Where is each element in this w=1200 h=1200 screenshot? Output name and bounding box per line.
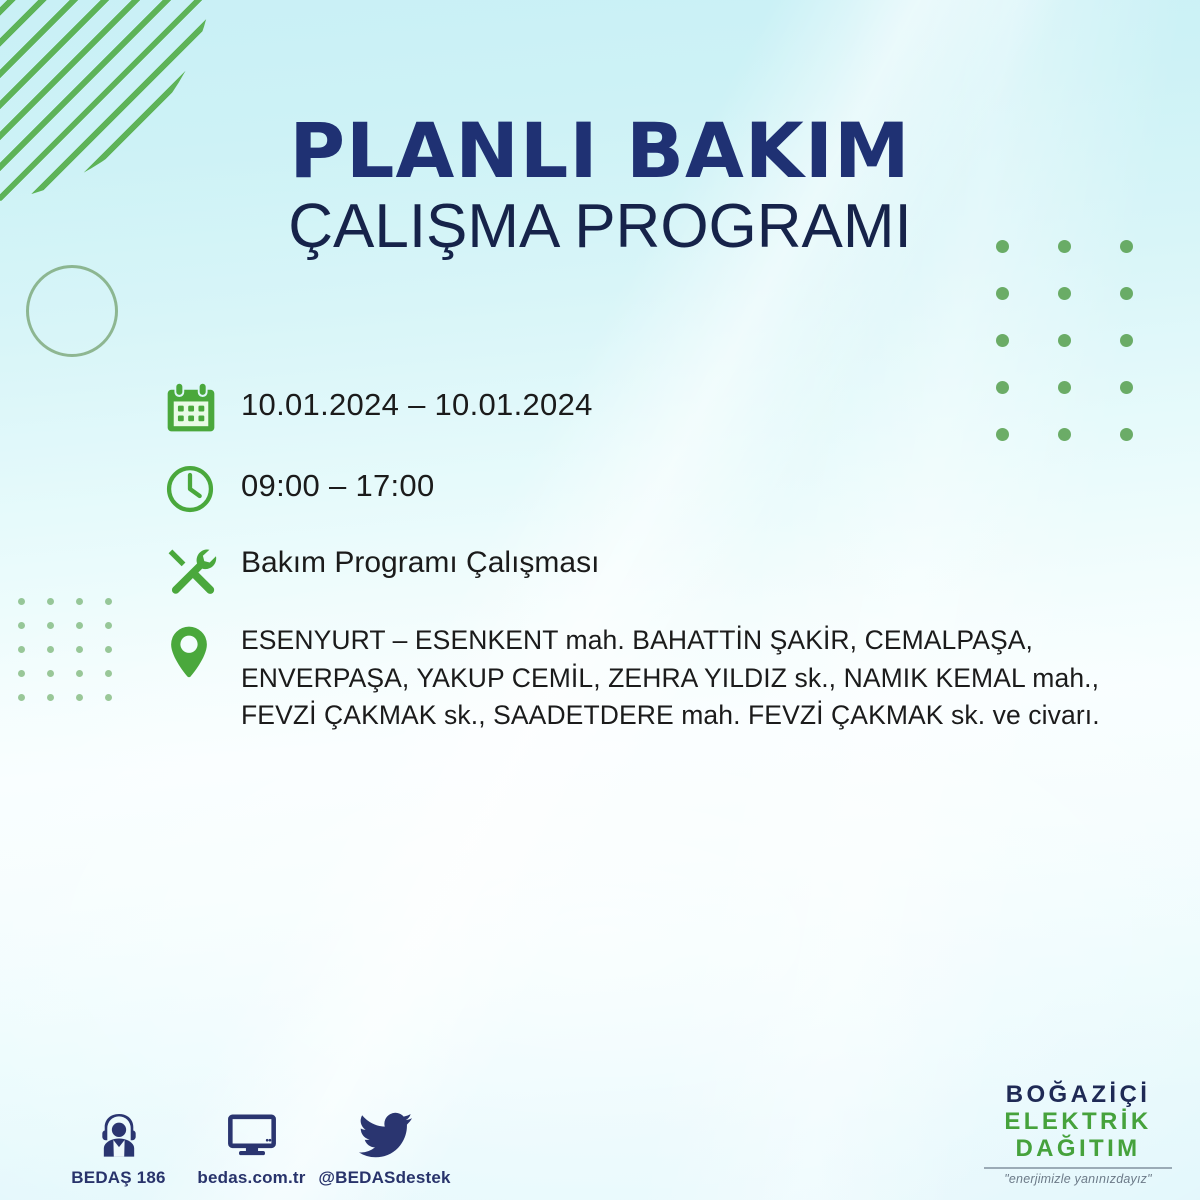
dot-grid-left-decoration: [18, 598, 134, 718]
brand-divider: [984, 1167, 1172, 1169]
info-row-work-type: Bakım Programı Çalışması: [163, 540, 1183, 598]
brand-line-dagitim: DAĞITIM: [978, 1136, 1178, 1163]
tools-icon: [163, 540, 241, 598]
circle-outline-decoration: [26, 265, 118, 357]
brand-tagline: "enerjimizle yanınızdayız": [978, 1172, 1178, 1186]
contact-phone-label: BEDAŞ 186: [52, 1168, 185, 1188]
calendar-icon: [163, 378, 241, 436]
location-text: ESENYURT – ESENKENT mah. BAHATTİN ŞAKİR,…: [241, 622, 1181, 735]
monitor-icon: [185, 1099, 318, 1161]
brand-logo: BOĞAZİÇİ ELEKTRİK DAĞITIM "enerjimizle y…: [978, 1082, 1178, 1186]
info-row-time: 09:00 – 17:00: [163, 460, 1183, 516]
date-range-text: 10.01.2024 – 10.01.2024: [241, 378, 593, 423]
brand-line-bogazici: BOĞAZİÇİ: [978, 1082, 1178, 1109]
map-pin-icon: [163, 622, 241, 680]
info-row-location: ESENYURT – ESENKENT mah. BAHATTİN ŞAKİR,…: [163, 622, 1183, 735]
contact-phone[interactable]: BEDAŞ 186: [52, 1099, 185, 1188]
page-title: PLANLI BAKIM: [0, 112, 1200, 190]
contact-twitter[interactable]: @BEDASdestek: [318, 1099, 451, 1188]
call-center-agent-icon: [52, 1099, 185, 1161]
work-type-text: Bakım Programı Çalışması: [241, 540, 599, 580]
footer-contacts: BEDAŞ 186 bedas.com.tr @BEDASdestek: [52, 1099, 451, 1188]
info-row-date: 10.01.2024 – 10.01.2024: [163, 378, 1183, 436]
time-range-text: 09:00 – 17:00: [241, 460, 435, 504]
brand-line-elektrik: ELEKTRİK: [978, 1109, 1178, 1136]
twitter-bird-icon: [318, 1099, 451, 1161]
page-subtitle: ÇALIŞMA PROGRAMI: [0, 194, 1200, 259]
clock-icon: [163, 460, 241, 516]
contact-website[interactable]: bedas.com.tr: [185, 1099, 318, 1188]
poster-header: PLANLI BAKIM ÇALIŞMA PROGRAMI: [0, 112, 1200, 259]
contact-twitter-label: @BEDASdestek: [318, 1168, 451, 1188]
info-list: 10.01.2024 – 10.01.2024 09:00 – 17:00 Ba…: [163, 378, 1183, 759]
contact-website-label: bedas.com.tr: [185, 1168, 318, 1188]
